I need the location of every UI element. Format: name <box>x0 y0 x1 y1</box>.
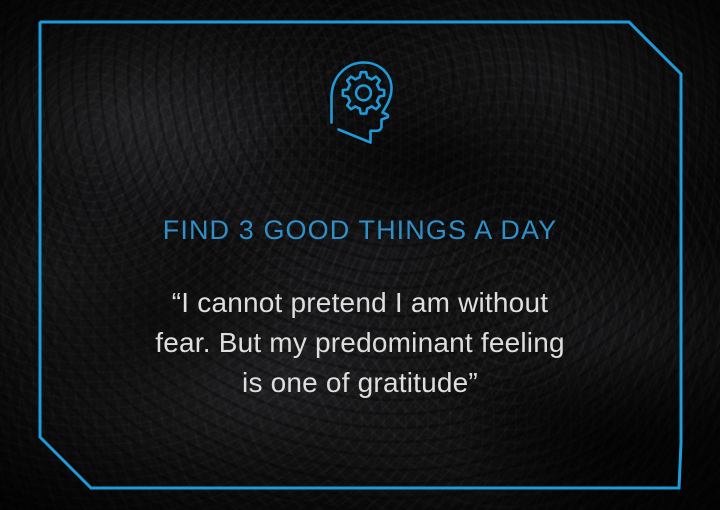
quote-line: is one of gratitude” <box>120 363 600 403</box>
quote-text: “I cannot pretend I am without fear. But… <box>120 283 600 403</box>
brain-gear-icon <box>316 56 404 148</box>
poster-content: FIND 3 GOOD THINGS A DAY “I cannot prete… <box>0 0 720 510</box>
quote-line: “I cannot pretend I am without <box>120 283 600 323</box>
quote-poster: FIND 3 GOOD THINGS A DAY “I cannot prete… <box>0 0 720 510</box>
quote-line: fear. But my predominant feeling <box>120 323 600 363</box>
page-title: FIND 3 GOOD THINGS A DAY <box>0 214 720 246</box>
